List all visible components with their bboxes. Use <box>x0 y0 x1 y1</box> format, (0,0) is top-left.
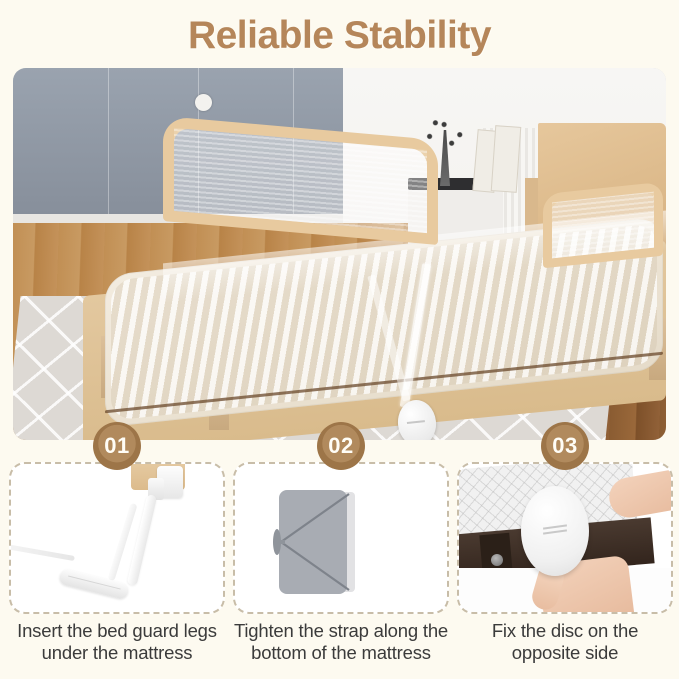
book-2 <box>491 125 522 193</box>
frame-screw <box>491 554 503 566</box>
step-badge: 03 <box>541 422 589 470</box>
rail-mesh <box>552 192 654 259</box>
anchor-disc <box>521 486 589 576</box>
step-badge: 02 <box>317 422 365 470</box>
step-image-02 <box>233 462 449 614</box>
wardrobe-knob-icon <box>195 94 212 111</box>
step-badge: 01 <box>93 422 141 470</box>
step-card-03: 03 Fix the <box>457 440 673 679</box>
steps-section: 01 Insert the bed guard legs under the m… <box>0 440 679 679</box>
guard-rail-edge <box>9 544 75 561</box>
rail-mesh <box>174 128 427 233</box>
step-image-03 <box>457 462 673 614</box>
step-caption: Fix the disc on the opposite side <box>457 620 673 664</box>
strap-diagram-svg <box>235 464 449 614</box>
step-card-02: 02 Tighten the strap along the bottom of… <box>233 440 449 679</box>
step-card-01: 01 Insert the bed guard legs under the m… <box>9 440 225 679</box>
page-title: Reliable Stability <box>0 14 679 58</box>
hero-photo <box>13 68 666 440</box>
step-caption: Insert the bed guard legs under the matt… <box>9 620 225 664</box>
step-caption: Tighten the strap along the bottom of th… <box>233 620 449 664</box>
bed-guard-rail-right <box>543 182 663 269</box>
infographic-page: Reliable Stability <box>0 0 679 679</box>
disc-slots <box>543 526 567 536</box>
step-image-01 <box>9 462 225 614</box>
guard-foot-pad <box>58 568 130 600</box>
